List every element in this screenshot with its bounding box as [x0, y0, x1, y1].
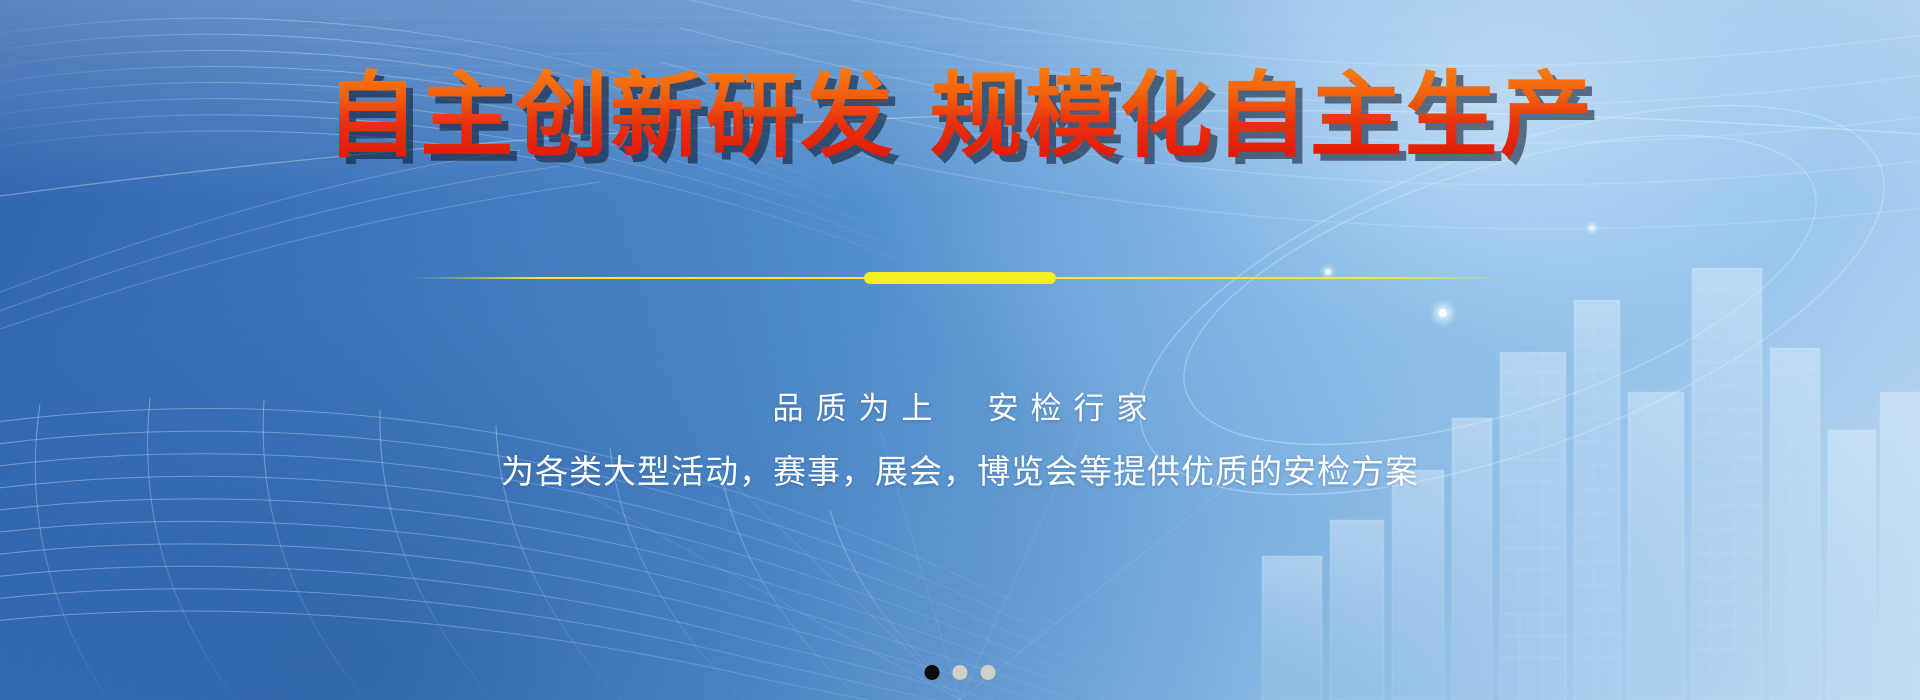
subtitle-block: 品质为上 安检行家 为各类大型活动，赛事，展会，博览会等提供优质的安检方案: [0, 390, 1920, 494]
yellow-divider: [410, 272, 1510, 284]
carousel-dot-3[interactable]: [981, 665, 996, 680]
title-block: 自主创新研发 规模化自主生产: [0, 66, 1920, 166]
carousel-dot-2[interactable]: [953, 665, 968, 680]
subtitle-primary: 品质为上 安检行家: [0, 390, 1920, 429]
hero-banner: 自主创新研发 规模化自主生产 品质为上 安检行家 为各类大型活动，赛事，展会，博…: [0, 0, 1920, 700]
subtitle-secondary: 为各类大型活动，赛事，展会，博览会等提供优质的安检方案: [0, 451, 1920, 494]
page-title: 自主创新研发 规模化自主生产: [325, 66, 1594, 166]
carousel-indicators[interactable]: [925, 665, 996, 680]
carousel-dot-1[interactable]: [925, 665, 940, 680]
divider-accent-bar: [864, 272, 1056, 284]
